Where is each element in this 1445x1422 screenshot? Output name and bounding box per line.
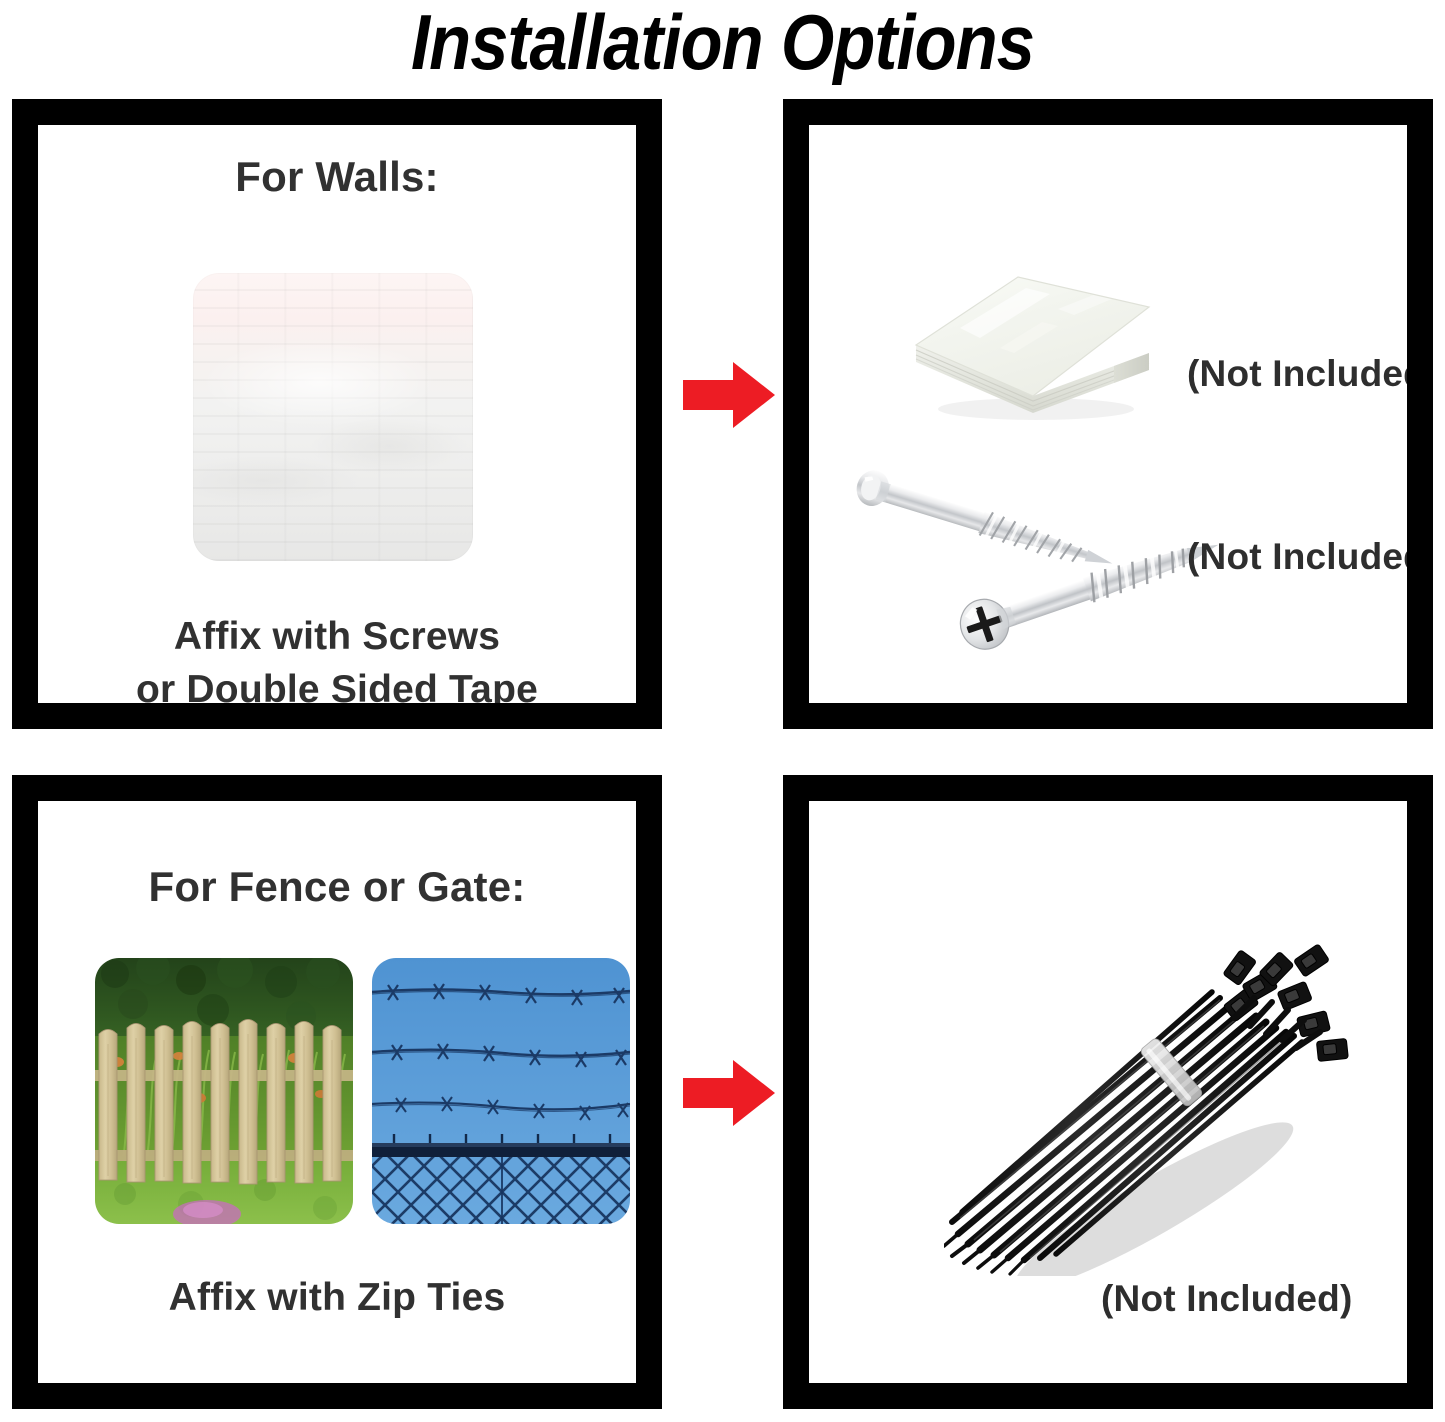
- affix-screws-caption-line1: Affix with Screws: [174, 615, 500, 658]
- for-walls-heading: For Walls:: [38, 153, 636, 201]
- panel-for-walls-content: For Walls: Affix with Screws or Double S…: [38, 125, 636, 703]
- panel-wall-hardware: (Not Included): [783, 99, 1433, 729]
- arrow-right-icon: [681, 358, 777, 432]
- screws-not-included-label: (Not Included): [1187, 536, 1407, 578]
- panel-for-fence-content: For Fence or Gate:: [38, 801, 636, 1383]
- panel-for-walls: For Walls: Affix with Screws or Double S…: [12, 99, 662, 729]
- arrow-right-icon: [681, 1056, 777, 1130]
- affix-zip-ties-caption: Affix with Zip Ties: [38, 1271, 636, 1324]
- wooden-picket-fence-photo: [95, 958, 353, 1224]
- tape-not-included-label: (Not Included): [1187, 353, 1407, 395]
- panel-fence-hardware-content: (Not Included): [809, 801, 1407, 1383]
- panel-wall-hardware-content: (Not Included): [809, 125, 1407, 703]
- zip-ties-not-included-label: (Not Included): [1101, 1278, 1352, 1320]
- for-fence-heading: For Fence or Gate:: [38, 863, 636, 911]
- panel-fence-hardware: (Not Included): [783, 775, 1433, 1409]
- panel-for-fence-or-gate: For Fence or Gate:: [12, 775, 662, 1409]
- chain-link-barbed-wire-fence-photo: [372, 958, 630, 1224]
- black-zip-ties-bundle-image: [944, 906, 1364, 1276]
- white-brick-wall-image: [193, 273, 473, 561]
- page-title: Installation Options: [87, 0, 1359, 88]
- brick-texture-mottle: [193, 273, 473, 561]
- affix-screws-caption-line2: or Double Sided Tape: [136, 668, 538, 703]
- double-sided-tape-stack-image: [908, 249, 1158, 424]
